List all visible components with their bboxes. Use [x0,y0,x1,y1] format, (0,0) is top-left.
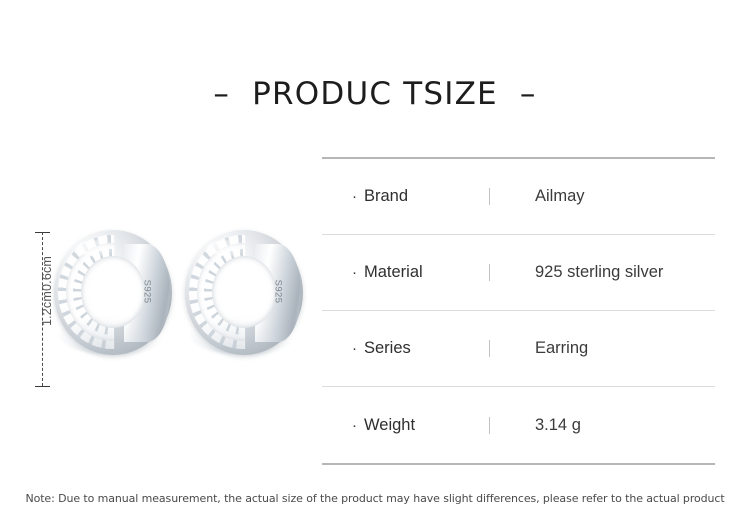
spec-value-label: Ailmay [490,187,715,206]
ruler-cap-bottom-icon [35,386,50,387]
table-row: · Weight 3.14 g [322,387,715,463]
measurement-ruler: 1.2cm0.6cm [33,232,53,386]
spec-key-label: Brand [364,187,408,206]
silver-stamp-right: S925 [273,280,284,304]
table-row: · Brand Ailmay [322,159,715,235]
earring-reflection-left [60,316,166,355]
bullet-icon: · [352,189,357,204]
earring-right: S925 [185,222,305,407]
bullet-icon: · [352,341,357,356]
spec-key-cell: · Material [322,263,489,282]
hoop-highlight [207,240,247,256]
table-row: · Series Earring [322,311,715,387]
page-title: – PRODUC TSIZE – [0,76,750,112]
earring-reflection-right [191,316,297,355]
spec-value-label: 925 sterling silver [490,263,715,282]
spec-value-label: 3.14 g [490,416,715,435]
spec-key-cell: · Brand [322,187,489,206]
spec-table: · Brand Ailmay · Material 925 sterling s… [322,157,715,465]
spec-key-label: Material [364,263,423,282]
spec-key-label: Series [364,339,411,358]
table-row: · Material 925 sterling silver [322,235,715,311]
spec-key-cell: · Series [322,339,489,358]
spec-key-label: Weight [364,416,415,435]
product-image: S925 S925 [52,222,314,407]
spec-key-cell: · Weight [322,416,489,435]
product-size-page: – PRODUC TSIZE – 1.2cm0.6cm S925 [0,0,750,523]
hoop-highlight [76,240,116,256]
footer-note: Note: Due to manual measurement, the act… [0,492,750,505]
earring-left: S925 [54,222,174,407]
spec-value-label: Earring [490,339,715,358]
bullet-icon: · [352,265,357,280]
bullet-icon: · [352,418,357,433]
silver-stamp-left: S925 [142,280,153,304]
